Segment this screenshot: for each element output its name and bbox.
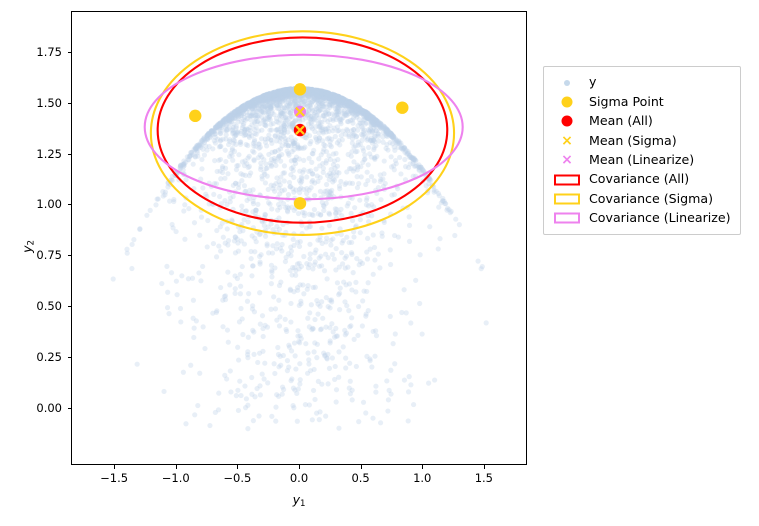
scatter-point — [348, 379, 353, 384]
legend-item[interactable]: ×Mean (Sigma) — [552, 131, 731, 150]
scatter-point — [245, 299, 250, 304]
scatter-point — [231, 183, 236, 188]
scatter-point — [269, 270, 274, 275]
scatter-point — [245, 426, 250, 431]
scatter-point — [330, 252, 335, 257]
scatter-point — [306, 357, 311, 362]
scatter-point — [350, 397, 355, 402]
marker-dot — [189, 110, 201, 122]
scatter-point — [166, 311, 171, 316]
scatter-point — [372, 145, 377, 150]
scatter-point — [320, 200, 325, 205]
scatter-point — [307, 212, 312, 217]
x-axis-label-base: y — [293, 492, 300, 507]
scatter-point — [228, 195, 233, 200]
scatter-point — [274, 318, 279, 323]
scatter-point — [309, 327, 314, 332]
scatter-point — [389, 154, 394, 159]
scatter-point — [199, 166, 204, 171]
scatter-point — [225, 270, 230, 275]
scatter-point — [233, 142, 238, 147]
scatter-point — [265, 116, 270, 121]
scatter-point — [311, 388, 316, 393]
scatter-point — [260, 326, 265, 331]
scatter-point — [334, 399, 339, 404]
scatter-point — [303, 341, 308, 346]
scatter-point — [307, 133, 312, 138]
scatter-point — [235, 129, 240, 134]
scatter-point — [325, 352, 330, 357]
scatter-point — [437, 236, 442, 241]
scatter-point — [331, 151, 336, 156]
scatter-point — [222, 121, 227, 126]
scatter-point — [453, 217, 458, 222]
scatter-point — [301, 254, 306, 259]
y-tick-mark — [68, 204, 72, 205]
scatter-point — [171, 197, 176, 202]
scatter-point — [369, 213, 374, 218]
scatter-point — [407, 239, 412, 244]
scatter-point — [214, 254, 219, 259]
scatter-point — [191, 298, 196, 303]
scatter-point — [432, 377, 437, 382]
scatter-point — [345, 265, 350, 270]
x-tick-label: 1.5 — [454, 471, 514, 485]
scatter-point — [245, 352, 250, 357]
scatter-point — [278, 146, 283, 151]
chart-legend: ySigma PointMean (All)×Mean (Sigma)×Mean… — [543, 66, 741, 235]
scatter-point — [307, 402, 312, 407]
scatter-point — [165, 290, 170, 295]
scatter-point — [436, 205, 441, 210]
scatter-point — [371, 232, 376, 237]
y-tick-mark — [68, 154, 72, 155]
scatter-point — [242, 383, 247, 388]
scatter-point — [233, 235, 238, 240]
scatter-point — [380, 126, 385, 131]
scatter-point — [312, 317, 317, 322]
legend-item[interactable]: y — [552, 73, 731, 92]
scatter-point — [355, 333, 360, 338]
scatter-point — [358, 217, 363, 222]
scatter-point — [334, 173, 339, 178]
scatter-point — [205, 244, 210, 249]
scatter-point — [302, 135, 307, 140]
dot-icon — [562, 116, 573, 127]
scatter-point — [293, 366, 298, 371]
scatter-point — [300, 282, 305, 287]
scatter-point — [223, 148, 228, 153]
scatter-point — [304, 174, 309, 179]
scatter-point — [250, 263, 255, 268]
scatter-point — [315, 238, 320, 243]
scatter-point — [343, 356, 348, 361]
scatter-point — [355, 185, 360, 190]
scatter-point — [232, 291, 237, 296]
scatter-point — [286, 109, 291, 114]
scatter-point — [440, 198, 445, 203]
scatter-point — [388, 262, 393, 267]
scatter-point — [276, 155, 281, 160]
scatter-point — [307, 188, 312, 193]
scatter-point — [200, 185, 205, 190]
scatter-point — [272, 149, 277, 154]
scatter-point — [346, 308, 351, 313]
scatter-point — [268, 92, 273, 97]
y-tick-mark — [68, 255, 72, 256]
scatter-point — [198, 278, 203, 283]
scatter-point — [384, 133, 389, 138]
scatter-point — [269, 274, 274, 279]
scatter-point — [327, 366, 332, 371]
scatter-point — [275, 345, 280, 350]
scatter-point — [232, 133, 237, 138]
scatter-point — [285, 204, 290, 209]
scatter-point — [354, 364, 359, 369]
scatter-point — [347, 240, 352, 245]
scatter-point — [260, 371, 265, 376]
scatter-point — [344, 282, 349, 287]
legend-marker-box-icon — [552, 209, 582, 228]
scatter-point — [344, 169, 349, 174]
scatter-point — [165, 305, 170, 310]
scatter-point — [270, 110, 275, 115]
scatter-point — [316, 89, 321, 94]
figure-canvas: −1.5−1.0−0.50.00.51.01.5 0.000.250.500.7… — [0, 0, 759, 526]
scatter-point — [148, 208, 153, 213]
scatter-point — [321, 113, 326, 118]
y-tick-label: 0.50 — [12, 299, 62, 313]
scatter-point — [211, 241, 216, 246]
scatter-point — [276, 352, 281, 357]
scatter-point — [318, 212, 323, 217]
scatter-point — [249, 392, 254, 397]
scatter-point — [420, 331, 425, 336]
legend-item[interactable]: Covariance (Sigma) — [552, 189, 731, 208]
x-tick-mark — [361, 465, 362, 469]
scatter-point — [213, 135, 218, 140]
scatter-point — [242, 183, 247, 188]
scatter-point — [196, 270, 201, 275]
scatter-point — [259, 128, 264, 133]
scatter-point — [334, 387, 339, 392]
scatter-point — [326, 255, 331, 260]
scatter-point — [311, 285, 316, 290]
scatter-point — [344, 254, 349, 259]
scatter-point — [360, 323, 365, 328]
scatter-point — [238, 139, 243, 144]
scatter-point — [214, 228, 219, 233]
scatter-point — [174, 279, 179, 284]
scatter-point — [365, 236, 370, 241]
scatter-point — [305, 93, 310, 98]
scatter-point — [273, 181, 278, 186]
scatter-point — [310, 151, 315, 156]
scatter-point — [233, 286, 238, 291]
scatter-point — [349, 252, 354, 257]
scatter-point — [292, 119, 297, 124]
scatter-point — [407, 214, 412, 219]
scatter-point — [325, 119, 330, 124]
scatter-point — [319, 226, 324, 231]
scatter-point — [393, 331, 398, 336]
scatter-point — [170, 222, 175, 227]
scatter-point — [372, 354, 377, 359]
scatter-point — [291, 190, 296, 195]
scatter-point — [249, 375, 254, 380]
scatter-point — [200, 264, 205, 269]
scatter-point — [246, 291, 251, 296]
scatter-point — [327, 223, 332, 228]
scatter-point — [333, 364, 338, 369]
scatter-point — [321, 166, 326, 171]
scatter-point — [252, 137, 257, 142]
scatter-point — [284, 329, 289, 334]
scatter-point — [391, 341, 396, 346]
scatter-point — [326, 136, 331, 141]
scatter-point — [237, 229, 242, 234]
scatter-point — [417, 301, 422, 306]
legend-marker-x-icon: × — [552, 151, 582, 170]
scatter-point — [406, 165, 411, 170]
scatter-point — [352, 205, 357, 210]
scatter-point — [295, 333, 300, 338]
scatter-point — [293, 273, 298, 278]
scatter-point — [263, 180, 268, 185]
scatter-point — [230, 158, 235, 163]
scatter-point — [232, 149, 237, 154]
scatter-point — [240, 208, 245, 213]
scatter-point — [227, 282, 232, 287]
scatter-point — [405, 151, 410, 156]
scatter-point — [388, 247, 393, 252]
scatter-point — [351, 159, 356, 164]
scatter-point — [312, 193, 317, 198]
legend-label: Sigma Point — [589, 96, 664, 109]
scatter-point — [326, 381, 331, 386]
scatter-point — [247, 188, 252, 193]
scatter-point — [220, 324, 225, 329]
scatter-point — [236, 357, 241, 362]
scatter-point — [329, 188, 334, 193]
scatter-point — [274, 116, 279, 121]
scatter-point — [124, 247, 129, 252]
scatter-point — [324, 129, 329, 134]
scatter-point — [307, 103, 312, 108]
plot-content — [72, 12, 527, 465]
scatter-point — [199, 215, 204, 220]
scatter-point — [279, 188, 284, 193]
scatter-point — [225, 226, 230, 231]
scatter-point — [308, 125, 313, 130]
scatter-point — [244, 198, 249, 203]
scatter-point — [388, 368, 393, 373]
scatter-point — [284, 105, 289, 110]
scatter-point — [178, 319, 183, 324]
scatter-point — [484, 320, 489, 325]
scatter-point — [281, 387, 286, 392]
scatter-point — [238, 272, 243, 277]
scatter-point — [413, 278, 418, 283]
scatter-point — [371, 272, 376, 277]
scatter-point — [299, 174, 304, 179]
scatter-point — [266, 250, 271, 255]
scatter-point — [267, 128, 272, 133]
scatter-point — [341, 344, 346, 349]
scatter-point — [197, 233, 202, 238]
scatter-point — [307, 224, 312, 229]
scatter-point — [239, 178, 244, 183]
scatter-point — [398, 171, 403, 176]
scatter-point — [257, 383, 262, 388]
scatter-point — [262, 361, 267, 366]
scatter-point — [317, 107, 322, 112]
scatter-point — [314, 355, 319, 360]
y-tick-mark — [68, 103, 72, 104]
scatter-point — [322, 268, 327, 273]
scatter-point — [365, 170, 370, 175]
scatter-point — [306, 112, 311, 117]
scatter-point — [235, 240, 240, 245]
scatter-point — [239, 113, 244, 118]
scatter-point — [328, 242, 333, 247]
scatter-point — [224, 376, 229, 381]
scatter-point — [351, 270, 356, 275]
scatter-point — [312, 262, 317, 267]
scatter-point — [316, 379, 321, 384]
scatter-point — [328, 340, 333, 345]
scatter-point — [324, 182, 329, 187]
scatter-point — [162, 192, 167, 197]
scatter-point — [204, 136, 209, 141]
scatter-point — [263, 212, 268, 217]
scatter-point — [266, 224, 271, 229]
scatter-point — [237, 319, 242, 324]
x-tick-label: −0.5 — [207, 471, 267, 485]
scatter-point — [448, 210, 453, 215]
x-icon: × — [561, 153, 573, 167]
scatter-point — [270, 186, 275, 191]
x-tick-mark — [299, 465, 300, 469]
scatter-point — [264, 143, 269, 148]
legend-label: Covariance (All) — [589, 173, 689, 186]
scatter-point — [265, 380, 270, 385]
y-tick-label: 1.50 — [12, 96, 62, 110]
scatter-point — [191, 316, 196, 321]
scatter-point — [247, 154, 252, 159]
scatter-point — [218, 157, 223, 162]
scatter-point — [291, 237, 296, 242]
scatter-point — [257, 290, 262, 295]
x-tick-mark — [484, 465, 485, 469]
scatter-point — [181, 167, 186, 172]
scatter-point — [227, 119, 232, 124]
scatter-point — [137, 227, 142, 232]
scatter-point — [307, 310, 312, 315]
scatter-point — [355, 174, 360, 179]
scatter-point — [202, 346, 207, 351]
scatter-point — [393, 158, 398, 163]
scatter-point — [282, 163, 287, 168]
scatter-point — [174, 292, 179, 297]
scatter-point — [301, 158, 306, 163]
scatter-point — [272, 265, 277, 270]
scatter-point — [307, 256, 312, 261]
scatter-point — [334, 246, 339, 251]
scatter-point — [226, 340, 231, 345]
scatter-point — [238, 393, 243, 398]
scatter-point — [363, 314, 368, 319]
scatter-point — [373, 384, 378, 389]
scatter-point — [298, 299, 303, 304]
scatter-point — [252, 249, 257, 254]
legend-marker-box-icon — [552, 170, 582, 189]
scatter-point — [274, 392, 279, 397]
scatter-point — [328, 174, 333, 179]
scatter-point — [273, 133, 278, 138]
scatter-point — [207, 131, 212, 136]
scatter-point — [296, 211, 301, 216]
scatter-point — [335, 280, 340, 285]
scatter-point — [364, 195, 369, 200]
scatter-point — [333, 326, 338, 331]
scatter-point — [287, 180, 292, 185]
scatter-point — [337, 186, 342, 191]
scatter-point — [327, 305, 332, 310]
scatter-point — [241, 104, 246, 109]
scatter-point — [111, 276, 116, 281]
scatter-point — [252, 309, 257, 314]
scatter-point — [391, 163, 396, 168]
legend-item[interactable]: Covariance (All) — [552, 170, 731, 189]
legend-label: Covariance (Linearize) — [589, 212, 731, 225]
legend-item[interactable]: ×Mean (Linearize) — [552, 151, 731, 170]
scatter-point — [411, 402, 416, 407]
scatter-point — [216, 391, 221, 396]
scatter-point — [388, 314, 393, 319]
scatter-point — [373, 390, 378, 395]
scatter-point — [188, 363, 193, 368]
scatter-point — [240, 332, 245, 337]
legend-item[interactable]: Sigma Point — [552, 92, 731, 111]
scatter-point — [386, 397, 391, 402]
x-tick-label: 1.0 — [392, 471, 452, 485]
scatter-point — [253, 208, 258, 213]
scatter-point — [293, 353, 298, 358]
x-tick-label: 0.0 — [269, 471, 329, 485]
scatter-point — [225, 327, 230, 332]
scatter-point — [340, 240, 345, 245]
legend-label: y — [589, 76, 596, 89]
y-tick-label: 1.75 — [12, 45, 62, 59]
scatter-point — [390, 141, 395, 146]
scatter-point — [408, 320, 413, 325]
scatter-point — [242, 158, 247, 163]
scatter-point — [285, 368, 290, 373]
scatter-point — [395, 141, 400, 146]
scatter-point — [347, 361, 352, 366]
legend-item[interactable]: Covariance (Linearize) — [552, 209, 731, 228]
scatter-point — [291, 243, 296, 248]
scatter-point — [272, 361, 277, 366]
scatter-point — [357, 107, 362, 112]
scatter-point — [220, 166, 225, 171]
scatter-point — [354, 134, 359, 139]
scatter-point — [210, 311, 215, 316]
scatter-point — [334, 113, 339, 118]
legend-item[interactable]: Mean (All) — [552, 112, 731, 131]
scatter-point — [251, 157, 256, 162]
